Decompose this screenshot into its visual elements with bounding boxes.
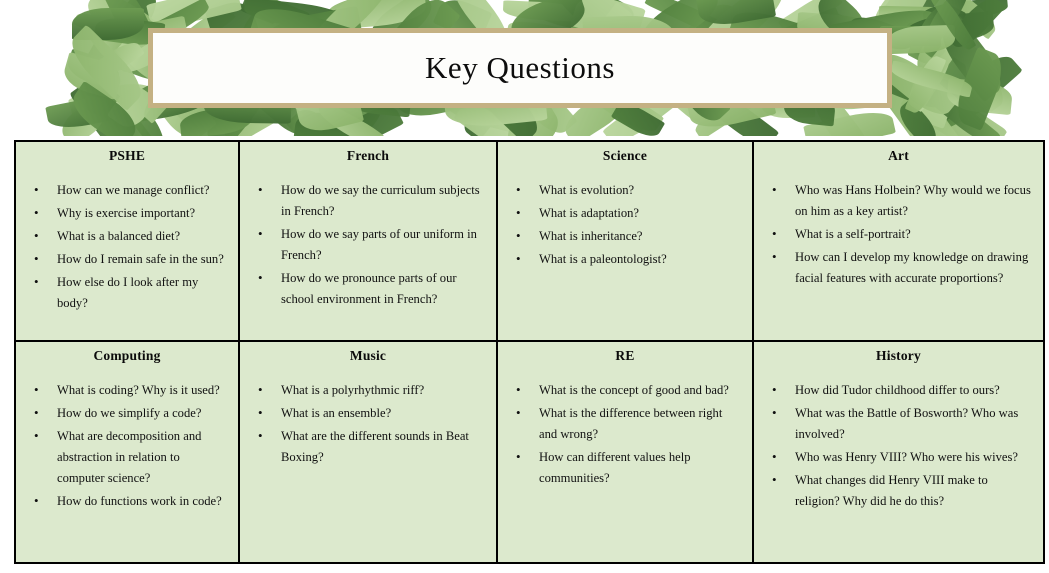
list-item: How do functions work in code? — [34, 491, 228, 512]
list-item: What is inheritance? — [516, 226, 742, 247]
subjects-table: PSHE How can we manage conflict? Why is … — [14, 140, 1045, 564]
list-item: What is evolution? — [516, 180, 742, 201]
subject-heading: Science — [502, 148, 748, 164]
subject-cell-art[interactable]: Art Who was Hans Holbein? Why would we f… — [753, 141, 1044, 341]
subject-heading: PSHE — [20, 148, 234, 164]
subject-heading: Computing — [20, 348, 234, 364]
table-body: PSHE How can we manage conflict? Why is … — [15, 141, 1044, 563]
subject-cell-french[interactable]: French How do we say the curriculum subj… — [239, 141, 497, 341]
list-item: What is an ensemble? — [258, 403, 486, 424]
subject-cell-music[interactable]: Music What is a polyrhythmic riff? What … — [239, 341, 497, 563]
list-item: What changes did Henry VIII make to reli… — [772, 470, 1033, 512]
page-banner: Key Questions — [0, 0, 1049, 136]
key-questions-grid: PSHE How can we manage conflict? Why is … — [14, 140, 1035, 558]
list-item: How do we say parts of our uniform in Fr… — [258, 224, 486, 266]
list-item: What is the difference between right and… — [516, 403, 742, 445]
table-row: Computing What is coding? Why is it used… — [15, 341, 1044, 563]
question-list: What is evolution? What is adaptation? W… — [502, 180, 748, 270]
list-item: Why is exercise important? — [34, 203, 228, 224]
list-item: What are decomposition and abstraction i… — [34, 426, 228, 489]
list-item: What is a self-portrait? — [772, 224, 1033, 245]
list-item: What was the Battle of Bosworth? Who was… — [772, 403, 1033, 445]
list-item: Who was Hans Holbein? Why would we focus… — [772, 180, 1033, 222]
list-item: What are the different sounds in Beat Bo… — [258, 426, 486, 468]
page-title: Key Questions — [148, 28, 892, 108]
table-row: PSHE How can we manage conflict? Why is … — [15, 141, 1044, 341]
subject-heading: Music — [244, 348, 492, 364]
question-list: How can we manage conflict? Why is exerc… — [20, 180, 234, 314]
list-item: What is the concept of good and bad? — [516, 380, 742, 401]
list-item: How can different values help communitie… — [516, 447, 742, 489]
list-item: Who was Henry VIII? Who were his wives? — [772, 447, 1033, 468]
list-item: How do we pronounce parts of our school … — [258, 268, 486, 310]
question-list: What is the concept of good and bad? Wha… — [502, 380, 748, 489]
list-item: What is a paleontologist? — [516, 249, 742, 270]
question-list: Who was Hans Holbein? Why would we focus… — [758, 180, 1039, 289]
subject-heading: History — [758, 348, 1039, 364]
question-list: What is coding? Why is it used? How do w… — [20, 380, 234, 512]
list-item: How did Tudor childhood differ to ours? — [772, 380, 1033, 401]
subject-cell-science[interactable]: Science What is evolution? What is adapt… — [497, 141, 753, 341]
question-list: How did Tudor childhood differ to ours? … — [758, 380, 1039, 512]
list-item: How can we manage conflict? — [34, 180, 228, 201]
list-item: How do we say the curriculum subjects in… — [258, 180, 486, 222]
list-item: How do I remain safe in the sun? — [34, 249, 228, 270]
subject-heading: Art — [758, 148, 1039, 164]
subject-heading: French — [244, 148, 492, 164]
list-item: What is adaptation? — [516, 203, 742, 224]
list-item: How else do I look after my body? — [34, 272, 228, 314]
list-item: What is a balanced diet? — [34, 226, 228, 247]
list-item: How can I develop my knowledge on drawin… — [772, 247, 1033, 289]
subject-cell-computing[interactable]: Computing What is coding? Why is it used… — [15, 341, 239, 563]
question-list: How do we say the curriculum subjects in… — [244, 180, 492, 310]
list-item: What is a polyrhythmic riff? — [258, 380, 486, 401]
subject-cell-re[interactable]: RE What is the concept of good and bad? … — [497, 341, 753, 563]
list-item: How do we simplify a code? — [34, 403, 228, 424]
subject-cell-pshe[interactable]: PSHE How can we manage conflict? Why is … — [15, 141, 239, 341]
list-item: What is coding? Why is it used? — [34, 380, 228, 401]
question-list: What is a polyrhythmic riff? What is an … — [244, 380, 492, 468]
subject-heading: RE — [502, 348, 748, 364]
subject-cell-history[interactable]: History How did Tudor childhood differ t… — [753, 341, 1044, 563]
